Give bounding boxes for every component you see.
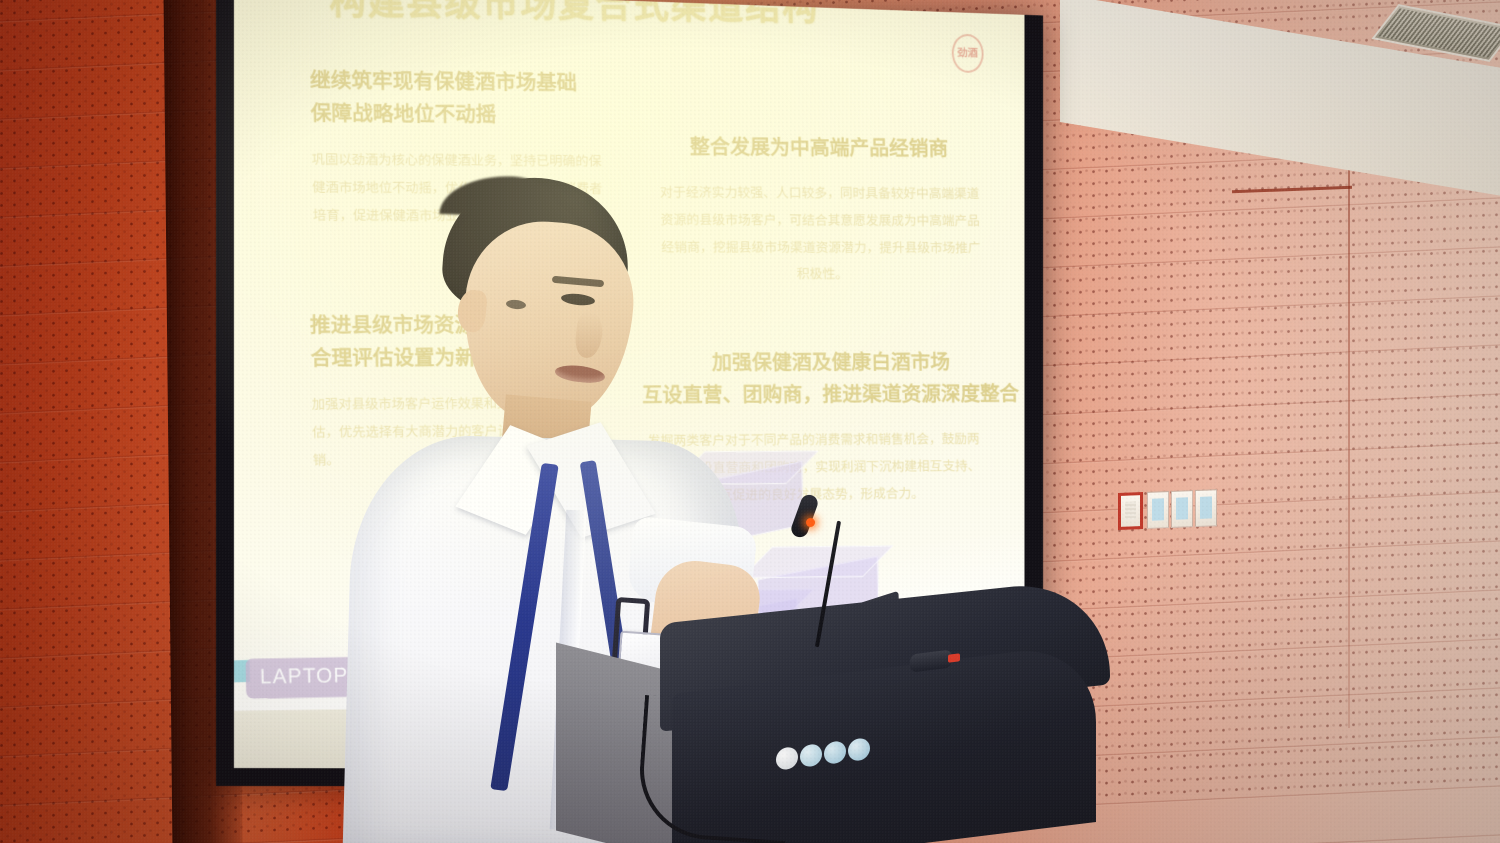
wall-switch-2-face[interactable]	[1176, 497, 1188, 519]
block-heading-line1: 整合发展为中高端产品经销商	[653, 131, 985, 166]
wall-panel-seam-vertical	[1348, 168, 1350, 728]
block-heading-line1: 继续筑牢现有保健酒市场基础	[310, 64, 604, 100]
podium-button-3[interactable]	[824, 740, 846, 765]
wall-switch-2[interactable]	[1171, 490, 1193, 528]
podium-button-2[interactable]	[800, 743, 822, 768]
wall-panel-info-lines	[1125, 501, 1136, 519]
wall-switch-1-face[interactable]	[1152, 498, 1164, 520]
company-logo-icon: 劲酒	[951, 34, 984, 73]
microphone-led-indicator	[806, 518, 815, 527]
wall-panel-info-plate	[1118, 492, 1143, 530]
wall-switch-3-face[interactable]	[1200, 496, 1212, 518]
podium-button-4[interactable]	[848, 737, 870, 762]
presentation-photo: 构建县级市场复合式渠道结构 劲酒 继续筑牢现有保健酒市场基础 保障战略地位不动摇…	[0, 0, 1500, 843]
wall-switch-3[interactable]	[1195, 489, 1217, 527]
block-heading-line2: 保障战略地位不动摇	[310, 97, 604, 132]
wall-switch-1[interactable]	[1147, 491, 1169, 529]
speaker-face	[457, 216, 639, 427]
microphone-base-led	[948, 653, 960, 662]
